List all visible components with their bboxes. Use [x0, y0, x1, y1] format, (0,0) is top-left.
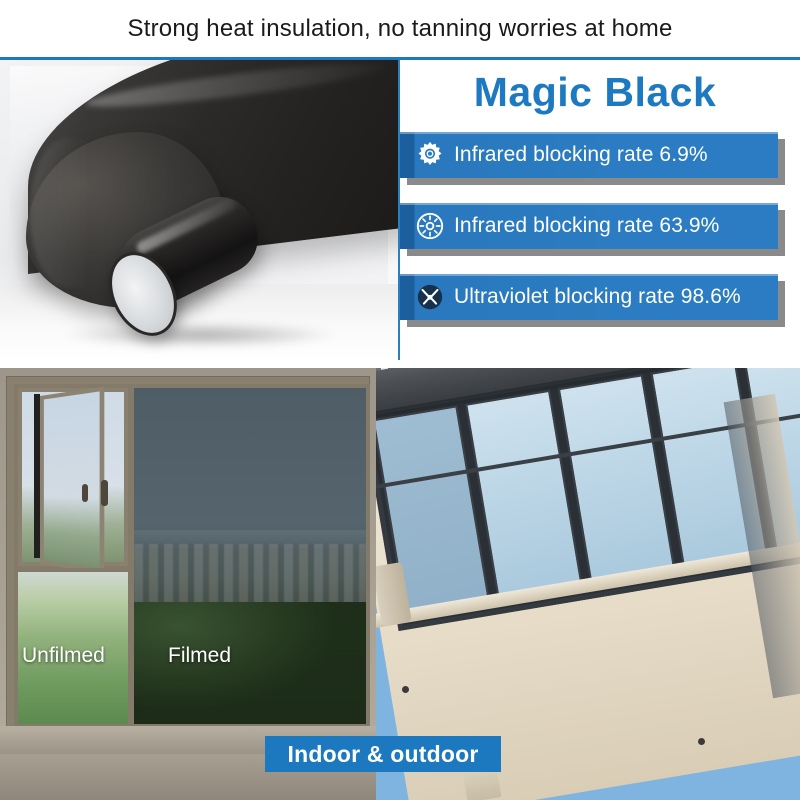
feature-bar-ultraviolet: Ultraviolet blocking rate 98.6%: [400, 274, 778, 320]
indoor-outdoor-banner: Indoor & outdoor: [265, 736, 501, 772]
feature-label: Ultraviolet blocking rate 98.6%: [454, 285, 741, 309]
window-film-roll-photo: [0, 60, 398, 360]
wall-fixture: [698, 738, 705, 745]
sun-gear-icon: [414, 139, 446, 171]
filmed-label: Filmed: [168, 644, 231, 668]
window-handle: [101, 480, 108, 506]
page-title: Magic Black: [400, 66, 790, 118]
product-infographic: Strong heat insulation, no tanning worri…: [0, 0, 800, 800]
cityscape-buildings: [134, 544, 366, 610]
photo-row: Unfilmed Filmed: [0, 368, 800, 800]
page-headline: Strong heat insulation, no tanning worri…: [0, 0, 800, 58]
sun-circle-icon: [414, 210, 446, 242]
wall-fixture: [402, 686, 409, 693]
film-shadow: [60, 322, 340, 348]
unfilmed-label: Unfilmed: [22, 644, 105, 668]
casement-open-sash: [40, 386, 104, 573]
feature-label: Infrared blocking rate 63.9%: [454, 214, 719, 238]
feature-bar-infrared-2: Infrared blocking rate 63.9%: [400, 203, 778, 249]
casement-window: [14, 384, 132, 570]
feature-bar-infrared-1: Infrared blocking rate 6.9%: [400, 132, 778, 178]
window-latch: [82, 484, 88, 502]
feature-label: Infrared blocking rate 6.9%: [454, 143, 708, 167]
banner-label: Indoor & outdoor: [288, 741, 479, 768]
uv-rays-icon: [414, 281, 446, 313]
filmed-pane: [130, 384, 370, 728]
